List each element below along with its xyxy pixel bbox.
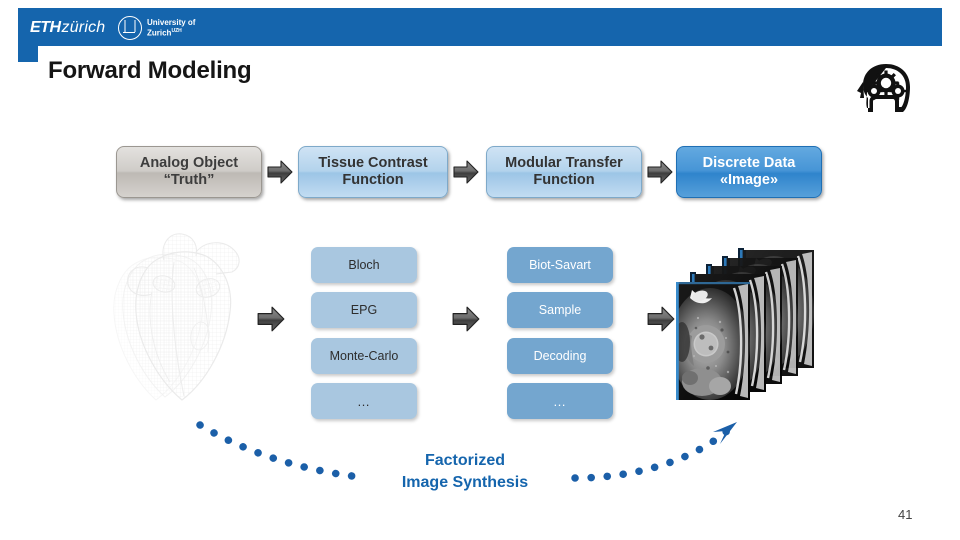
stage-2-line1: Modular Transfer (505, 155, 623, 171)
stage-2-line2: Function (533, 172, 594, 188)
right-arrow-icon-detail-3 (646, 304, 676, 334)
uzh-line2: Zurich (147, 29, 171, 38)
method-chip-more-b[interactable]: … (507, 383, 613, 419)
uzh-line1: University of (147, 18, 195, 27)
stage-1-line2: Function (342, 172, 403, 188)
cardiac-mri-slice-stack (676, 248, 828, 400)
chip-a-0-label: Bloch (348, 258, 379, 272)
method-chip-epg[interactable]: EPG (311, 292, 417, 328)
method-chip-decoding[interactable]: Decoding (507, 338, 613, 374)
uzh-mark: UZH (171, 28, 181, 34)
dotted-curve-right (575, 430, 728, 478)
pipeline-stage-tissue-contrast-function[interactable]: Tissue Contrast Function (298, 146, 448, 198)
slide-canvas: ETH zürich University of ZurichUZH Forwa… (0, 0, 960, 540)
method-chip-monte-carlo[interactable]: Monte-Carlo (311, 338, 417, 374)
caption-line1: Factorized (425, 452, 505, 469)
chip-a-3-label: … (357, 394, 371, 409)
eth-zurich-logo: ETH zürich (30, 18, 105, 38)
stage-3-line1: Discrete Data (703, 155, 796, 171)
pipeline-stage-discrete-data-image[interactable]: Discrete Data «Image» (676, 146, 822, 198)
eth-logo-bold: ETH (30, 19, 61, 37)
uzh-seal-icon (118, 16, 142, 40)
caption-factorized-image-synthesis: Factorized Image Synthesis (370, 450, 560, 494)
dotted-curve-arrowhead (713, 422, 737, 444)
chip-b-1-label: Sample (539, 303, 581, 317)
method-chip-more-a[interactable]: … (311, 383, 417, 419)
method-chip-bloch[interactable]: Bloch (311, 247, 417, 283)
dotted-curve-left (200, 425, 360, 477)
header-tab-notch (18, 46, 38, 62)
right-arrow-icon-top-3 (646, 158, 674, 186)
pipeline-stage-modular-transfer-function[interactable]: Modular Transfer Function (486, 146, 642, 198)
pipeline-stage-analog-object[interactable]: Analog Object “Truth” (116, 146, 262, 198)
method-chip-biot-savart[interactable]: Biot-Savart (507, 247, 613, 283)
stage-0-line2: “Truth” (164, 172, 215, 188)
uzh-logo-text: University of ZurichUZH (147, 18, 195, 39)
chip-b-0-label: Biot-Savart (529, 258, 591, 272)
eth-logo-light: zürich (62, 19, 106, 37)
page-title: Forward Modeling (48, 57, 251, 85)
stage-0-line1: Analog Object (140, 155, 238, 171)
chip-a-2-label: Monte-Carlo (330, 349, 399, 363)
stage-3-line2: «Image» (720, 172, 778, 188)
method-chip-sample[interactable]: Sample (507, 292, 613, 328)
chip-b-2-label: Decoding (534, 349, 587, 363)
university-of-zurich-logo: University of ZurichUZH (118, 16, 195, 40)
anatomical-heart-mesh-illustration (112, 228, 262, 414)
page-number: 41 (898, 507, 912, 522)
right-arrow-icon-detail-2 (451, 304, 481, 334)
caption-line2: Image Synthesis (402, 474, 528, 491)
right-arrow-icon-detail-1 (256, 304, 286, 334)
head-with-gears-icon (855, 62, 917, 114)
chip-b-3-label: … (553, 394, 567, 409)
right-arrow-icon-top-2 (452, 158, 480, 186)
right-arrow-icon-top-1 (266, 158, 294, 186)
stage-1-line1: Tissue Contrast (318, 155, 427, 171)
chip-a-1-label: EPG (351, 303, 377, 317)
